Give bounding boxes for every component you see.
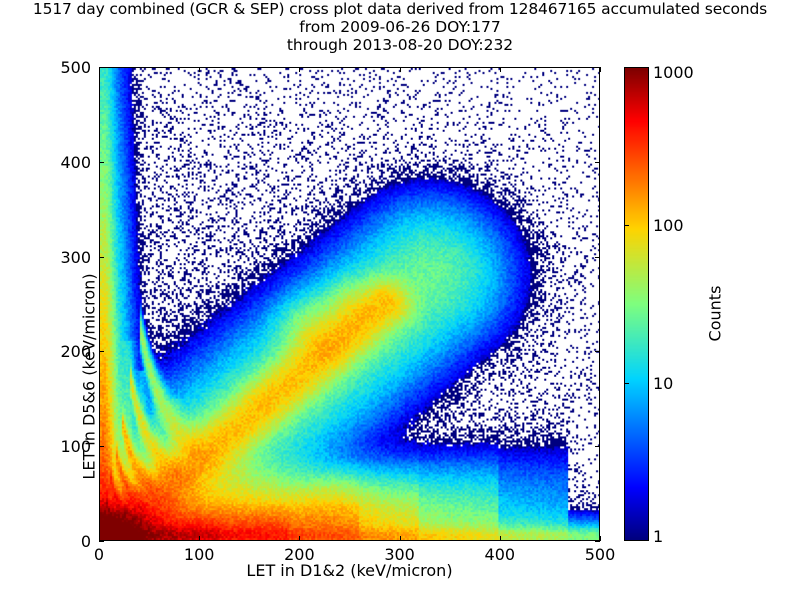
title-line-3: through 2013-08-20 DOY:232: [0, 36, 800, 54]
title-line-2: from 2009-06-26 DOY:177: [0, 18, 800, 36]
x-axis-tick: [500, 67, 501, 72]
y-axis-label-wrap: LET in D5&6 (keV/micron): [22, 67, 52, 541]
y-axis-tick: [99, 257, 104, 258]
y-axis-tick: [595, 446, 600, 447]
y-axis-tick: [99, 162, 104, 163]
y-axis-tick: [99, 541, 104, 542]
x-axis-tick: [600, 536, 601, 541]
colorbar-gradient-canvas: [625, 68, 648, 540]
y-axis-tick: [595, 541, 600, 542]
x-axis-tick: [500, 536, 501, 541]
density-heatmap-canvas: [100, 68, 599, 540]
y-axis-tick: [99, 351, 104, 352]
x-axis-tick: [199, 536, 200, 541]
colorbar-tick: [624, 383, 629, 384]
y-axis-tick: [595, 257, 600, 258]
colorbar-tick-label: 1: [653, 527, 663, 546]
colorbar-tick-label: 10: [653, 374, 673, 393]
x-axis-tick: [299, 67, 300, 72]
y-axis-tick: [595, 67, 600, 68]
x-axis-tick: [199, 67, 200, 72]
x-axis-tick: [400, 536, 401, 541]
density-plot-area[interactable]: [99, 67, 600, 541]
x-axis-label: LET in D1&2 (keV/micron): [99, 561, 600, 580]
y-axis-label: LET in D5&6 (keV/micron): [80, 140, 99, 614]
colorbar-tick-label: 100: [653, 216, 684, 235]
colorbar[interactable]: [624, 67, 649, 541]
x-axis-tick: [600, 67, 601, 72]
y-axis-tick: [99, 446, 104, 447]
y-axis-tick: [595, 162, 600, 163]
colorbar-tick: [624, 225, 629, 226]
colorbar-label: Counts: [706, 77, 725, 551]
chart-title: 1517 day combined (GCR & SEP) cross plot…: [0, 0, 800, 54]
title-line-1: 1517 day combined (GCR & SEP) cross plot…: [0, 0, 800, 18]
x-axis-tick: [400, 67, 401, 72]
y-axis-tick: [99, 67, 104, 68]
colorbar-label-wrap: Counts: [700, 67, 730, 541]
colorbar-tick-label: 1000: [653, 63, 694, 82]
y-axis-tick: [595, 351, 600, 352]
x-axis-tick: [299, 536, 300, 541]
